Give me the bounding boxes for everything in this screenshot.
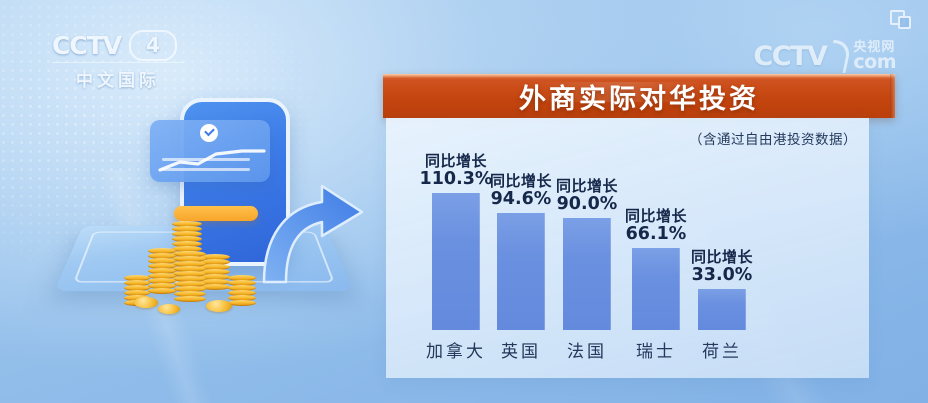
loose-coin (206, 300, 232, 312)
growth-caption: 同比增长 (691, 250, 753, 267)
watermark-wordmark: CCTV (753, 41, 826, 72)
bar-group: 同比增长33.0%荷兰 (698, 289, 746, 330)
channel-subtitle: 中文国际 (52, 66, 184, 91)
bar-value-label: 同比增长110.3% (420, 154, 493, 193)
trend-line-icon (158, 148, 266, 174)
bar (497, 213, 545, 330)
bar-group: 同比增长110.3%加拿大 (432, 193, 480, 330)
chart-panel: （含通过自由港投资数据） 同比增长110.3%加拿大同比增长94.6%英国同比增… (386, 118, 869, 378)
growth-value: 90.0% (556, 195, 618, 215)
cctv4-logo-row: CCTV 4 (52, 30, 184, 60)
bar-group: 同比增长94.6%英国 (497, 213, 545, 330)
category-label: 瑞士 (636, 337, 676, 362)
loose-coin (134, 297, 158, 308)
cctv-wordmark: CCTV (52, 31, 121, 60)
category-label: 法国 (567, 337, 607, 362)
bar (563, 218, 611, 330)
growth-caption: 同比增长 (420, 154, 493, 171)
bar-value-label: 同比增长33.0% (691, 250, 753, 289)
loose-coin (158, 304, 180, 314)
watermark-cn-block: 央视网 com (853, 40, 896, 72)
check-badge-icon (200, 124, 218, 142)
title-banner: 外商实际对华投资 (383, 74, 895, 118)
bar (632, 248, 680, 330)
investment-growth-illustration (62, 92, 372, 322)
coin-stack (148, 249, 176, 294)
bar-chart: 同比增长110.3%加拿大同比增长94.6%英国同比增长90.0%法国同比增长6… (386, 118, 869, 378)
bar-value-label: 同比增长94.6% (490, 174, 552, 213)
growth-value: 110.3% (420, 170, 493, 190)
growth-value: 94.6% (490, 190, 552, 210)
bar (432, 193, 480, 330)
gold-coin-stacks (118, 212, 278, 308)
picture-in-picture-icon[interactable] (890, 10, 912, 30)
category-label: 荷兰 (702, 337, 742, 362)
category-label: 加拿大 (426, 337, 486, 362)
growth-value: 66.1% (625, 225, 687, 245)
watermark-swoosh-icon (827, 40, 853, 73)
growth-caption: 同比增长 (490, 174, 552, 191)
coin-stack (228, 276, 256, 306)
cctv-com-watermark: CCTV 央视网 com (753, 36, 896, 76)
broadcast-screen: CCTV 4 中文国际 CCTV 央视网 com (0, 0, 928, 403)
logo-divider (52, 62, 184, 63)
pip-inner-square (898, 16, 911, 29)
growth-caption: 同比增长 (556, 179, 618, 196)
bar-group: 同比增长66.1%瑞士 (632, 248, 680, 330)
bar-value-label: 同比增长90.0% (556, 179, 618, 218)
growth-caption: 同比增长 (625, 209, 687, 226)
channel-number-badge: 4 (129, 30, 177, 61)
page-title: 外商实际对华投资 (519, 77, 759, 116)
bar (698, 289, 746, 330)
category-label: 英国 (501, 337, 541, 362)
coin-stack (174, 252, 206, 302)
bar-value-label: 同比增长66.1% (625, 209, 687, 248)
watermark-domain-text: com (853, 53, 896, 72)
cctv4-logo: CCTV 4 中文国际 (52, 30, 184, 88)
growth-value: 33.0% (691, 266, 753, 286)
bar-group: 同比增长90.0%法国 (563, 218, 611, 330)
